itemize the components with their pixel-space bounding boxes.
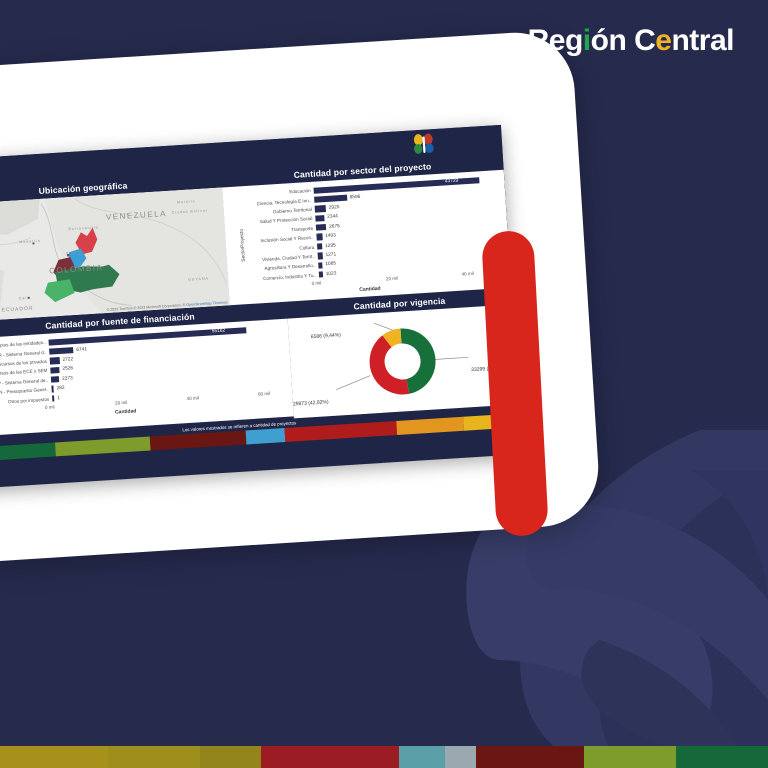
- bar-value-label: 1271: [322, 252, 336, 258]
- bottom-strip-segment: [399, 746, 445, 768]
- vigencia-chart-panel: Cantidad por vigencia 33299 (47,74%) 298…: [287, 288, 519, 419]
- map-label-cali: Cali: [19, 296, 29, 301]
- sector-chart-bars[interactable]: Educación43729Ciencia, Tecnología E Inn.…: [222, 170, 510, 285]
- colorbar-segment: [396, 417, 464, 435]
- colorbar-segment: [245, 428, 285, 444]
- page-header: Región Central: [0, 0, 768, 74]
- sector-chart-surface: SectorProyecto Educación43729Ciencia, Te…: [222, 170, 511, 305]
- bar-fill[interactable]: [316, 224, 327, 231]
- bar-value-label: 2675: [326, 224, 340, 230]
- sector-chart-panel: Cantidad por sector del proyecto SectorP…: [221, 153, 511, 305]
- map-panel: Ubicación geográfica: [0, 170, 230, 322]
- bar-fill[interactable]: [315, 215, 324, 222]
- bar-value-label: 55162: [212, 329, 226, 335]
- fuente-chart-surface: Recursos propios de las entidades..55162…: [0, 319, 294, 438]
- bar-value-label: 1023: [323, 271, 337, 277]
- brand-title-part3: ntral: [671, 24, 734, 57]
- brand-title-accent-i: i: [583, 24, 591, 57]
- bottom-strip-segment: [261, 746, 399, 768]
- donut-leader-line: [335, 376, 371, 390]
- bottom-strip-segment: [584, 746, 676, 768]
- bar-value-label: 6741: [73, 347, 87, 353]
- bar-value-label: 2344: [324, 215, 338, 221]
- bar-fill[interactable]: [50, 357, 60, 364]
- bottom-strip-segment: [0, 746, 108, 768]
- x-axis-tick: 60 mil: [258, 391, 271, 397]
- bottom-strip-segment: [676, 746, 768, 768]
- bottom-strip-segment: [476, 746, 584, 768]
- bottom-strip-segment: [445, 746, 476, 768]
- geographic-map[interactable]: VENEZUELA COLOMBIA PANAMA ECUADOR Medell…: [0, 187, 230, 322]
- brand-title: Región Central: [528, 24, 734, 58]
- x-axis-tick: 0 mil: [45, 404, 55, 410]
- bar-value-label: 282: [53, 386, 64, 392]
- gobierno-colombia-butterfly-icon: [408, 132, 439, 158]
- dashboard-body: Ubicación geográfica: [0, 153, 520, 463]
- bar-fill[interactable]: [315, 205, 326, 212]
- x-axis-tick: 20 mil: [386, 276, 399, 282]
- bottom-color-strip: [0, 746, 768, 768]
- bottom-strip-segment: [108, 746, 200, 768]
- bar-value-label: 2722: [59, 357, 73, 363]
- bar-fill[interactable]: [50, 367, 59, 374]
- bar-value-label: 1493: [322, 234, 336, 240]
- bar-value-label: 1: [54, 396, 60, 401]
- bar-fill[interactable]: [49, 347, 73, 355]
- x-axis-tick: 0 mil: [311, 280, 321, 286]
- x-axis-tick: 40 mil: [186, 395, 199, 401]
- brand-title-part2: ón C: [591, 24, 656, 57]
- bar-value-label: 1295: [322, 243, 336, 249]
- bar-value-label: 8596: [347, 194, 361, 200]
- fuente-chart-panel: Cantidad por fuente de financiación Recu…: [0, 302, 294, 440]
- brand-title-accent-e: e: [655, 24, 671, 57]
- bar-value-label: 2273: [59, 376, 73, 382]
- dashboard-screenshot: Ubicación geográfica: [0, 125, 522, 490]
- dashboard-card-wrapper: Ubicación geográfica: [0, 68, 768, 568]
- x-axis-tick: 20 mil: [115, 400, 128, 406]
- donut-leader-line: [374, 322, 392, 331]
- bar-value-label: 43729: [445, 179, 459, 185]
- x-axis-tick: 40 mil: [461, 271, 474, 277]
- bar-value-label: 1065: [322, 262, 336, 268]
- bar-value-label: 2526: [59, 367, 73, 373]
- vigencia-donut[interactable]: 33299 (47,74%) 29873 (42,82%) 6586 (9,44…: [288, 304, 519, 418]
- colorbar-segment: [0, 442, 56, 462]
- map-panel-surface: VENEZUELA COLOMBIA PANAMA ECUADOR Medell…: [0, 187, 230, 322]
- donut-leader-line: [435, 357, 468, 359]
- bottom-strip-segment: [200, 746, 261, 768]
- bar-value-label: 2920: [326, 205, 340, 211]
- brand-title-part1: Reg: [528, 24, 583, 57]
